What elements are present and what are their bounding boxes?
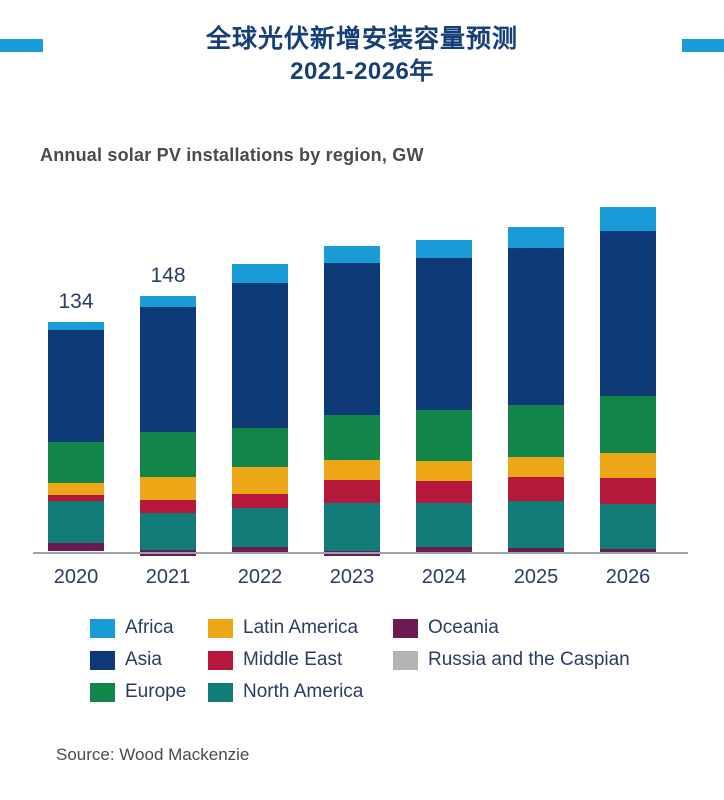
bar-segment-latin-america (232, 467, 288, 494)
legend-label: Latin America (243, 617, 358, 639)
bar-segment-middle-east (232, 494, 288, 508)
x-axis-label-2023: 2023 (324, 566, 380, 589)
bar-value-label-2021: 148 (140, 264, 196, 288)
x-axis-label-2021: 2021 (140, 566, 196, 589)
legend-label: North America (243, 681, 363, 703)
bar-segment-latin-america (324, 460, 380, 480)
bar-segment-latin-america (508, 457, 564, 477)
bars-container: 134148 (0, 0, 724, 552)
source-note: Source: Wood Mackenzie (56, 745, 249, 765)
x-axis-label-2020: 2020 (48, 566, 104, 589)
bar-2024[interactable] (416, 240, 472, 552)
legend-swatch-icon (208, 651, 233, 670)
legend-column-2: OceaniaRussia and the Caspian (393, 612, 630, 676)
bar-segment-north-america (140, 513, 196, 550)
bar-segment-latin-america (140, 477, 196, 500)
bar-segment-north-america (324, 503, 380, 551)
legend-swatch-icon (393, 619, 418, 638)
bar-segment-north-america (600, 504, 656, 549)
bar-segment-north-america (232, 508, 288, 547)
bar-segment-middle-east (416, 481, 472, 503)
legend-swatch-icon (90, 683, 115, 702)
legend-swatch-icon (208, 683, 233, 702)
bar-segment-europe (232, 428, 288, 467)
x-axis-line (33, 552, 688, 554)
legend-item-north-america[interactable]: North America (208, 676, 363, 708)
bar-segment-africa (600, 207, 656, 231)
legend-label: Russia and the Caspian (428, 649, 630, 671)
bar-segment-asia (416, 258, 472, 410)
legend-label: Europe (125, 681, 186, 703)
legend-label: Africa (125, 617, 174, 639)
legend-item-europe[interactable]: Europe (90, 676, 186, 708)
bar-segment-europe (324, 415, 380, 460)
bar-segment-latin-america (48, 483, 104, 495)
x-axis-label-2024: 2024 (416, 566, 472, 589)
bar-2022[interactable] (232, 264, 288, 552)
bar-segment-africa (232, 264, 288, 283)
bar-segment-middle-east (140, 500, 196, 513)
bar-segment-latin-america (416, 461, 472, 481)
x-axis-label-2026: 2026 (600, 566, 656, 589)
bar-value-label-2020: 134 (48, 290, 104, 314)
bar-2025[interactable] (508, 227, 564, 552)
bar-2020[interactable] (48, 322, 104, 552)
bar-segment-africa (48, 322, 104, 330)
x-axis-label-2025: 2025 (508, 566, 564, 589)
legend-item-oceania[interactable]: Oceania (393, 612, 630, 644)
bar-segment-europe (416, 410, 472, 461)
bar-segment-africa (416, 240, 472, 258)
legend-label: Oceania (428, 617, 499, 639)
bar-segment-africa (508, 227, 564, 248)
bar-2023[interactable] (324, 246, 380, 552)
bar-2026[interactable] (600, 207, 656, 552)
legend-column-0: AfricaAsiaEurope (90, 612, 186, 708)
bar-segment-north-america (416, 503, 472, 547)
bar-segment-asia (600, 231, 656, 396)
bar-segment-europe (48, 442, 104, 483)
bar-segment-asia (324, 263, 380, 415)
bar-segment-middle-east (324, 480, 380, 503)
bar-segment-middle-east (508, 477, 564, 501)
bar-segment-north-america (508, 501, 564, 548)
legend-item-latin-america[interactable]: Latin America (208, 612, 363, 644)
bar-segment-oceania (48, 543, 104, 551)
bar-segment-middle-east (600, 478, 656, 504)
bar-segment-europe (508, 405, 564, 457)
legend-swatch-icon (90, 651, 115, 670)
legend-swatch-icon (393, 651, 418, 670)
legend-item-asia[interactable]: Asia (90, 644, 186, 676)
bar-2021[interactable] (140, 296, 196, 552)
bar-segment-africa (324, 246, 380, 263)
bar-segment-asia (48, 330, 104, 442)
bar-segment-europe (140, 432, 196, 477)
bar-segment-europe (600, 396, 656, 453)
legend-column-1: Latin AmericaMiddle EastNorth America (208, 612, 363, 708)
legend-swatch-icon (90, 619, 115, 638)
legend-item-africa[interactable]: Africa (90, 612, 186, 644)
x-axis-label-2022: 2022 (232, 566, 288, 589)
legend-item-middle-east[interactable]: Middle East (208, 644, 363, 676)
legend-label: Middle East (243, 649, 342, 671)
bar-segment-asia (508, 248, 564, 405)
bar-segment-north-america (48, 501, 104, 543)
legend-swatch-icon (208, 619, 233, 638)
legend-item-russia-and-the-caspian[interactable]: Russia and the Caspian (393, 644, 630, 676)
bar-segment-asia (232, 283, 288, 428)
bar-segment-asia (140, 307, 196, 432)
bar-segment-latin-america (600, 453, 656, 478)
bar-segment-africa (140, 296, 196, 307)
legend-label: Asia (125, 649, 162, 671)
